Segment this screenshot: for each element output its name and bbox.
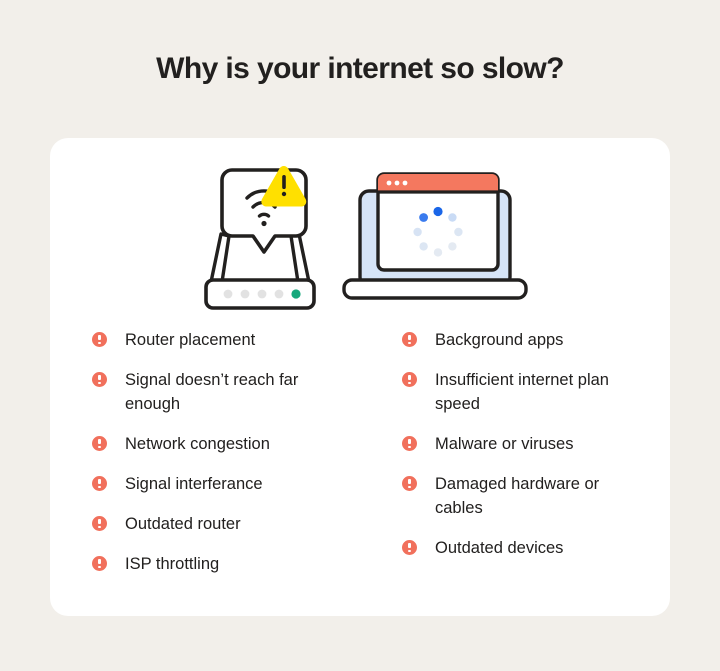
alert-circle-icon [92,372,107,387]
list-item-label: Insufficient internet plan speed [435,368,650,416]
list-item-label: Signal interferance [125,472,263,496]
infographic-page: Why is your internet so slow? [0,0,720,671]
list-item-label: Signal doesn’t reach far enough [125,368,340,416]
list-item: Insufficient internet plan speed [402,368,670,416]
alert-circle-icon [92,476,107,491]
list-item: Malware or viruses [402,432,670,456]
alert-circle-icon [402,436,417,451]
page-title: Why is your internet so slow? [0,52,720,86]
list-item-label: Outdated router [125,512,241,536]
reasons-column-right: Background apps Insufficient internet pl… [360,328,670,592]
laptop-illustration [340,166,530,311]
list-item: Background apps [402,328,670,352]
list-item-label: Background apps [435,328,563,352]
list-item: Outdated router [92,512,360,536]
alert-circle-icon [402,476,417,491]
list-item: Router placement [92,328,360,352]
list-item-label: Malware or viruses [435,432,573,456]
reasons-column-left: Router placement Signal doesn’t reach fa… [50,328,360,592]
list-item-label: Router placement [125,328,255,352]
list-item-label: ISP throttling [125,552,219,576]
alert-circle-icon [92,436,107,451]
content-card: Router placement Signal doesn’t reach fa… [50,138,670,616]
list-item: Signal doesn’t reach far enough [92,368,360,416]
alert-circle-icon [402,372,417,387]
alert-circle-icon [92,516,107,531]
reasons-lists: Router placement Signal doesn’t reach fa… [50,328,670,592]
alert-circle-icon [402,540,417,555]
list-item-label: Outdated devices [435,536,563,560]
list-item-label: Network congestion [125,432,270,456]
illustration-row [50,152,670,322]
list-item: ISP throttling [92,552,360,576]
list-item-label: Damaged hardware or cables [435,472,650,520]
alert-circle-icon [92,556,107,571]
list-item: Damaged hardware or cables [402,472,670,520]
wifi-router-illustration [195,160,325,315]
list-item: Signal interferance [92,472,360,496]
alert-circle-icon [92,332,107,347]
list-item: Outdated devices [402,536,670,560]
list-item: Network congestion [92,432,360,456]
alert-circle-icon [402,332,417,347]
